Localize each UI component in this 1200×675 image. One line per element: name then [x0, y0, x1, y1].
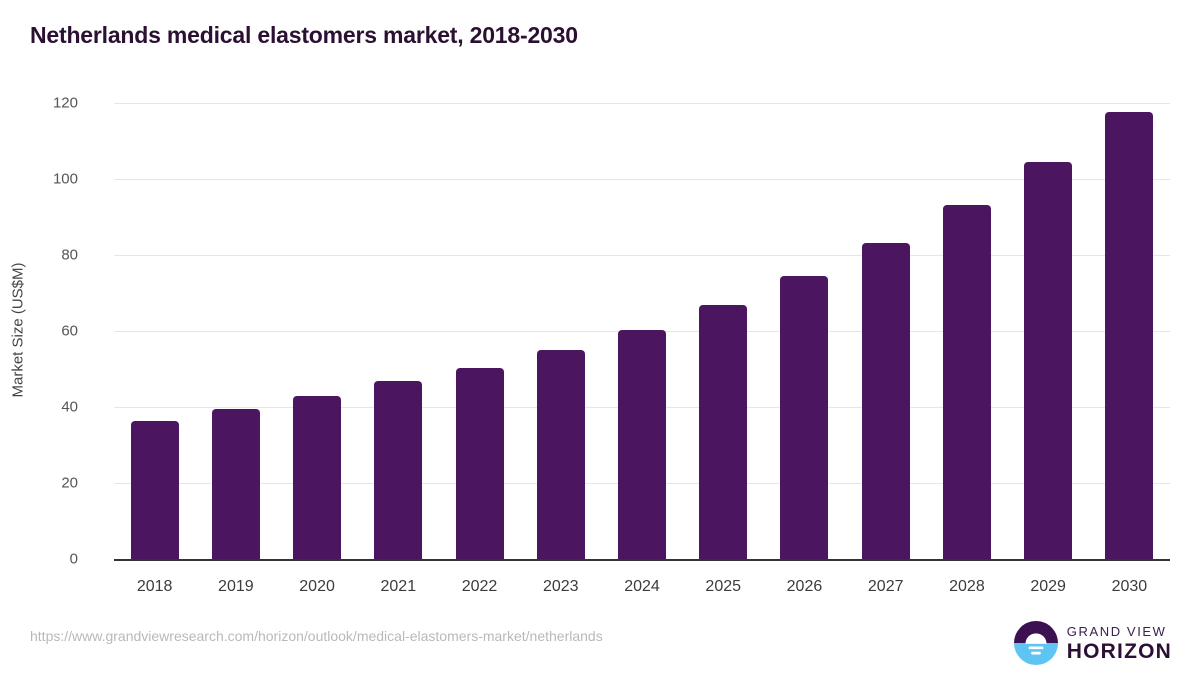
- y-tick-label: 0: [18, 551, 78, 568]
- bar-2018[interactable]: [131, 421, 179, 559]
- x-tick-label-2029: 2029: [1030, 578, 1066, 596]
- bar-slot: [195, 103, 276, 559]
- bar-slot: [358, 103, 439, 559]
- bar-slot: [520, 103, 601, 559]
- chart-page: Netherlands medical elastomers market, 2…: [0, 0, 1200, 675]
- logo-line-horizon: HORIZON: [1067, 641, 1172, 662]
- chart-canvas: Market Size (US$M) 020406080100120 20182…: [0, 0, 1200, 675]
- bar-2027[interactable]: [862, 243, 910, 559]
- y-tick-label: 60: [18, 323, 78, 340]
- y-tick-label: 120: [18, 95, 78, 112]
- bar-slot: [926, 103, 1007, 559]
- source-url[interactable]: https://www.grandviewresearch.com/horizo…: [30, 628, 603, 644]
- bar-slot: [764, 103, 845, 559]
- y-tick-label: 40: [18, 399, 78, 416]
- x-tick-label-2026: 2026: [787, 578, 823, 596]
- logo[interactable]: GRAND VIEW HORIZON: [1014, 620, 1172, 666]
- bar-series: [114, 103, 1170, 559]
- x-tick-label-2019: 2019: [218, 578, 254, 596]
- y-tick-label: 100: [18, 171, 78, 188]
- y-tick-label: 20: [18, 475, 78, 492]
- bar-2022[interactable]: [456, 368, 504, 559]
- bar-slot: [114, 103, 195, 559]
- x-tick-label-2024: 2024: [624, 578, 660, 596]
- bar-2029[interactable]: [1024, 162, 1072, 559]
- bar-2021[interactable]: [374, 381, 422, 559]
- plot-area: 020406080100120: [114, 103, 1170, 559]
- bar-slot: [439, 103, 520, 559]
- bar-slot: [845, 103, 926, 559]
- x-tick-label-2023: 2023: [543, 578, 579, 596]
- logo-text: GRAND VIEW HORIZON: [1067, 625, 1172, 662]
- x-tick-label-2021: 2021: [381, 578, 417, 596]
- y-tick-label: 80: [18, 247, 78, 264]
- bar-2024[interactable]: [618, 330, 666, 559]
- bar-2026[interactable]: [780, 276, 828, 559]
- bar-slot: [683, 103, 764, 559]
- bar-slot: [276, 103, 357, 559]
- bar-slot: [1089, 103, 1170, 559]
- logo-line-grand-view: GRAND VIEW: [1067, 625, 1172, 638]
- gridline: [114, 559, 1170, 561]
- bar-2030[interactable]: [1105, 112, 1153, 559]
- x-tick-label-2030: 2030: [1112, 578, 1148, 596]
- x-tick-label-2028: 2028: [949, 578, 985, 596]
- x-tick-label-2022: 2022: [462, 578, 498, 596]
- bar-2019[interactable]: [212, 409, 260, 559]
- x-tick-label-2018: 2018: [137, 578, 173, 596]
- bar-slot: [601, 103, 682, 559]
- bar-2028[interactable]: [943, 205, 991, 559]
- x-tick-label-2020: 2020: [299, 578, 335, 596]
- bar-2020[interactable]: [293, 396, 341, 559]
- bar-slot: [1008, 103, 1089, 559]
- bar-2025[interactable]: [699, 305, 747, 559]
- x-tick-label-2027: 2027: [868, 578, 904, 596]
- x-tick-label-2025: 2025: [705, 578, 741, 596]
- bar-2023[interactable]: [537, 350, 585, 559]
- horizon-logo-icon: [1014, 621, 1058, 665]
